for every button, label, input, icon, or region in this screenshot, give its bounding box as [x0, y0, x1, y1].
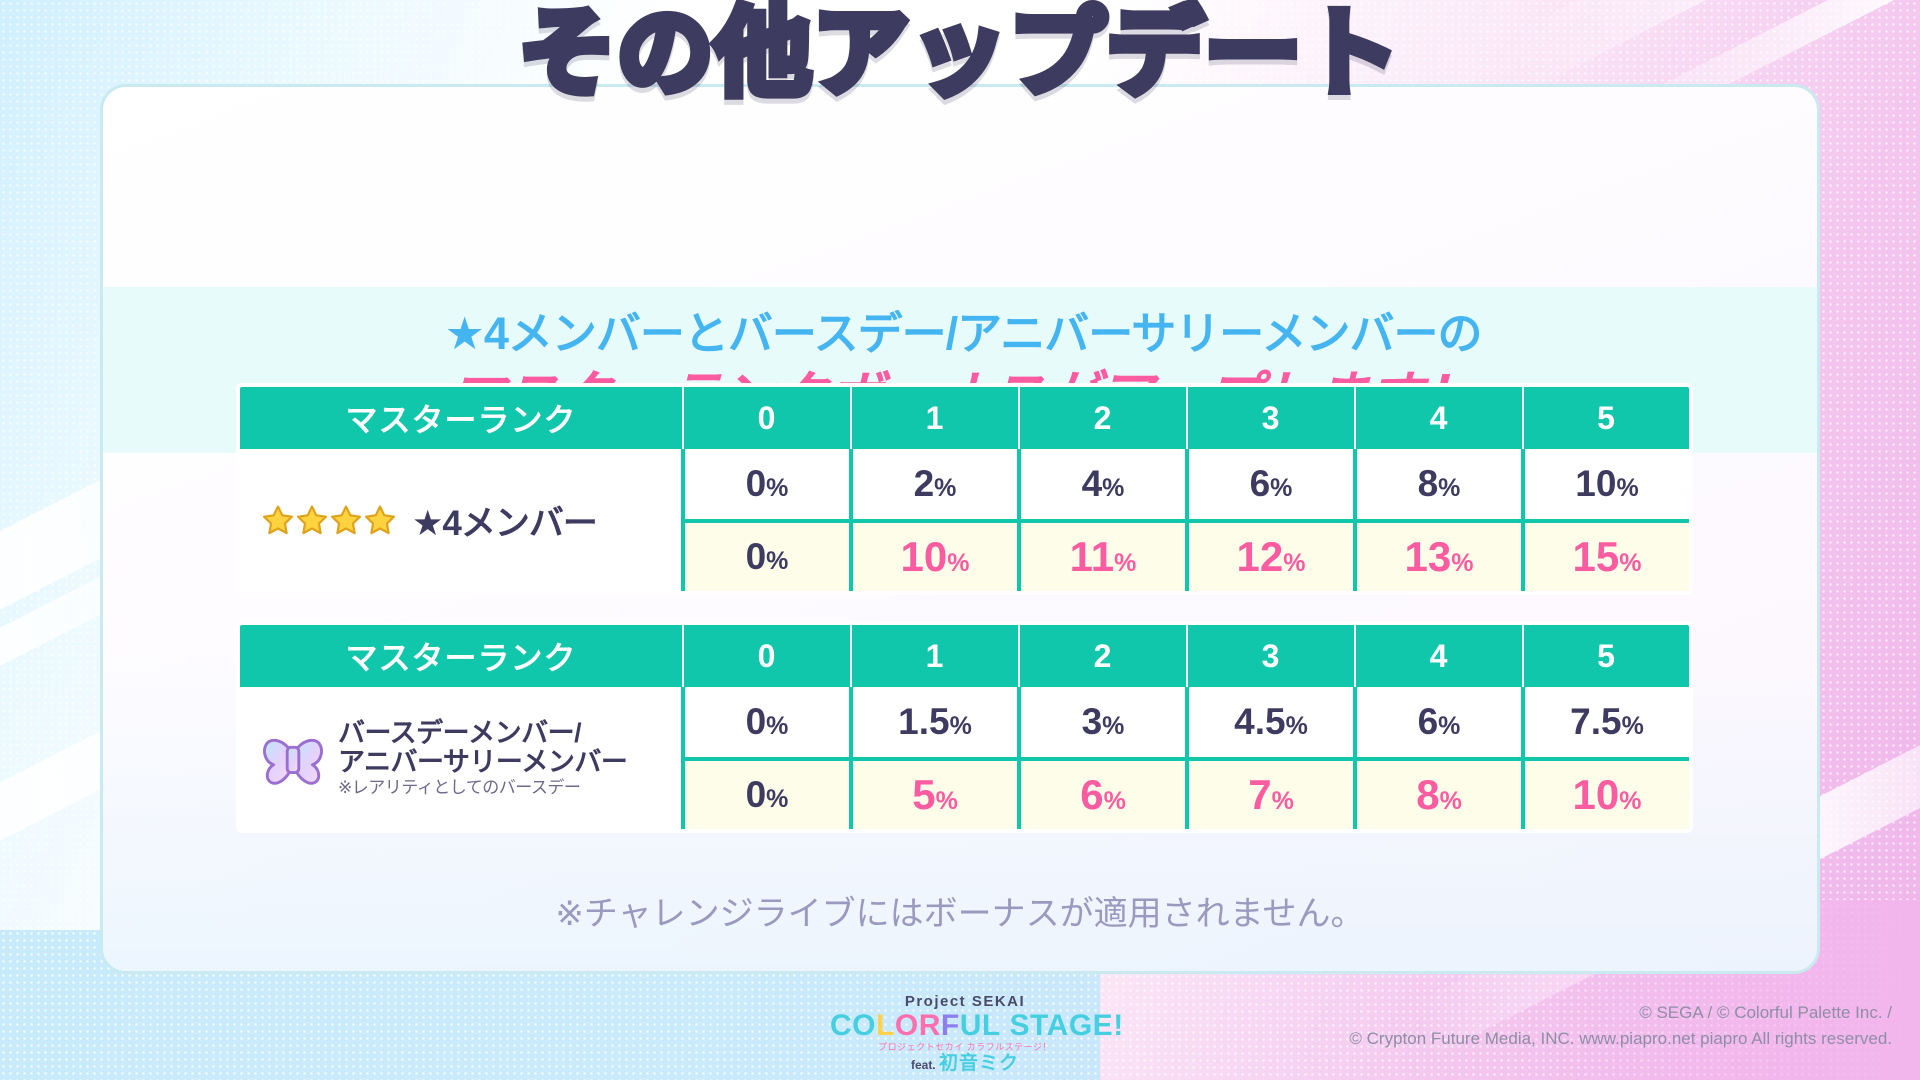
header-rank-2: 2	[1019, 623, 1187, 687]
cell-after-2: 6%	[1019, 759, 1187, 831]
four-gold-stars-icon	[262, 504, 396, 536]
cell-before-0: 0%	[683, 449, 851, 521]
cell-before-4: 6%	[1355, 687, 1523, 759]
cell-after-1: 5%	[851, 759, 1019, 831]
page-title: その他アップデート	[519, 0, 1401, 114]
cell-before-3: 6%	[1187, 449, 1355, 521]
row-label-birthday: バースデーメンバー/ アニバーサリーメンバー ※レアリティとしてのバースデー	[238, 687, 683, 831]
cell-before-1: 1.5%	[851, 687, 1019, 759]
row-label-star4: ★4メンバー	[238, 449, 683, 593]
cell-before-1: 2%	[851, 449, 1019, 521]
content-card: ★4メンバーとバースデー/アニバーサリーメンバーの マスターランクボーナスがアッ…	[100, 84, 1820, 974]
cell-after-3: 7%	[1187, 759, 1355, 831]
bonus-tables: マスターランク 0 1 2 3 4 5	[236, 383, 1691, 833]
cell-after-3: 12%	[1187, 521, 1355, 593]
copyright-line-1: © SEGA / © Colorful Palette Inc. /	[1349, 1000, 1892, 1026]
header-master-rank: マスターランク	[238, 385, 683, 449]
page-title-wrap: その他アップデート	[0, 0, 1920, 114]
logo-hatsune-miku: 初音ミク	[939, 1054, 1019, 1073]
cell-before-5: 7.5%	[1523, 687, 1691, 759]
logo-colorful-stage: COLORFUL STAGE!	[830, 1011, 1100, 1041]
footnote: ※チャレンジライブにはボーナスが適用されません。	[0, 886, 1920, 935]
infographic-stage: ★4メンバーとバースデー/アニバーサリーメンバーの マスターランクボーナスがアッ…	[0, 0, 1920, 1080]
header-rank-1: 1	[851, 385, 1019, 449]
header-rank-2: 2	[1019, 385, 1187, 449]
copyright-line-2: © Crypton Future Media, INC. www.piapro.…	[1349, 1026, 1892, 1052]
table-header-row: マスターランク 0 1 2 3 4 5	[238, 623, 1691, 687]
cell-after-1: 10%	[851, 521, 1019, 593]
header-master-rank: マスターランク	[238, 623, 683, 687]
cell-before-3: 4.5%	[1187, 687, 1355, 759]
cell-after-4: 13%	[1355, 521, 1523, 593]
table-row-before: バースデーメンバー/ アニバーサリーメンバー ※レアリティとしてのバースデー 0…	[238, 687, 1691, 759]
copyright: © SEGA / © Colorful Palette Inc. / © Cry…	[1349, 1000, 1892, 1053]
cell-after-5: 10%	[1523, 759, 1691, 831]
table-star4: マスターランク 0 1 2 3 4 5	[236, 383, 1693, 595]
cell-before-0: 0%	[683, 687, 851, 759]
cell-before-2: 4%	[1019, 449, 1187, 521]
table-birthday-anniversary: マスターランク 0 1 2 3 4 5	[236, 621, 1693, 833]
header-rank-4: 4	[1355, 385, 1523, 449]
row-label-text-line2: アニバーサリーメンバー	[338, 748, 627, 776]
header-rank-5: 5	[1523, 385, 1691, 449]
cell-after-0: 0%	[683, 759, 851, 831]
header-rank-3: 3	[1187, 385, 1355, 449]
logo-feat: feat. 初音ミク	[830, 1054, 1100, 1073]
logo-subtitle-jp: プロジェクトセカイ カラフルステージ！	[830, 1043, 1100, 1052]
subtitle-line-1: ★4メンバーとバースデー/アニバーサリーメンバーの	[103, 305, 1820, 363]
header-rank-0: 0	[683, 385, 851, 449]
row-label-note: ※レアリティとしてのバースデー	[338, 779, 627, 797]
table-header-row: マスターランク 0 1 2 3 4 5	[238, 385, 1691, 449]
header-rank-1: 1	[851, 623, 1019, 687]
row-label-text-line1: バースデーメンバー/	[338, 719, 627, 747]
game-logo: Project SEKAI COLORFUL STAGE! プロジェクトセカイ …	[830, 994, 1100, 1073]
header-rank-0: 0	[683, 623, 851, 687]
table-row-before: ★4メンバー 0% 2% 4% 6% 8% 10%	[238, 449, 1691, 521]
purple-ribbon-icon	[262, 729, 324, 787]
logo-project-sekai: Project SEKAI	[830, 994, 1100, 1009]
cell-before-2: 3%	[1019, 687, 1187, 759]
header-rank-5: 5	[1523, 623, 1691, 687]
row-label-text-star4: ★4メンバー	[412, 495, 597, 546]
cell-after-5: 15%	[1523, 521, 1691, 593]
cell-before-4: 8%	[1355, 449, 1523, 521]
cell-after-2: 11%	[1019, 521, 1187, 593]
cell-after-0: 0%	[683, 521, 851, 593]
cell-after-4: 8%	[1355, 759, 1523, 831]
header-rank-4: 4	[1355, 623, 1523, 687]
cell-before-5: 10%	[1523, 449, 1691, 521]
header-rank-3: 3	[1187, 623, 1355, 687]
